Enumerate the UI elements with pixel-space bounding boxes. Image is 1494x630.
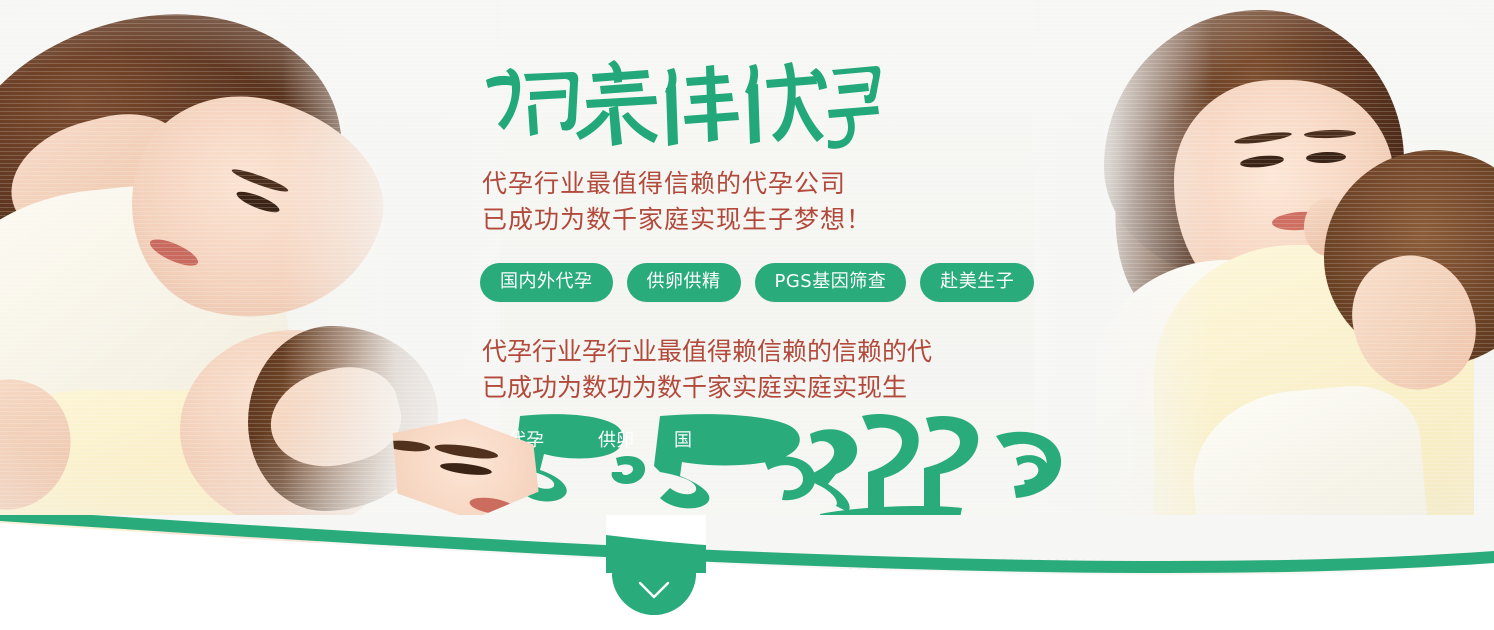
glitch-tagline-line-1: 代孕行业孕行业最值得赖信赖的信赖的代: [482, 334, 932, 370]
ghost-pill-2: 供卵: [578, 422, 640, 461]
glitch-tagline-line-2: 已成功为数功为数千家实庭实庭实现生: [482, 370, 932, 406]
brand-title: [480, 52, 880, 152]
pill-domestic-overseas-surrogacy[interactable]: 国内外代孕: [480, 263, 613, 302]
hero-panel: 代孕行业最值得信赖的代孕公司 已成功为数千家庭实现生子梦想！ 国内外代孕 供卵供…: [0, 0, 1494, 575]
bottom-curve-section: [0, 515, 1494, 630]
pill-birth-in-usa[interactable]: 赴美生子: [920, 263, 1034, 302]
tagline: 代孕行业最值得信赖的代孕公司 已成功为数千家庭实现生子梦想！: [482, 166, 872, 238]
tagline-line-2: 已成功为数千家庭实现生子梦想！: [482, 202, 872, 238]
tagline-line-1: 代孕行业最值得信赖的代孕公司: [482, 166, 872, 202]
hero-banner: 代孕行业最值得信赖的代孕公司 已成功为数千家庭实现生子梦想！ 国内外代孕 供卵供…: [0, 0, 1494, 630]
service-pill-group: 国内外代孕 供卵供精 PGS基因筛查 赴美生子: [480, 263, 1034, 302]
pill-egg-sperm-donation[interactable]: 供卵供精: [627, 263, 741, 302]
glitch-tagline: 代孕行业孕行业最值得赖信赖的信赖的代 已成功为数功为数千家实庭实庭实现生: [482, 334, 932, 406]
render-glitch-artifact: 代孕行业孕行业最值得赖信赖的信赖的代 已成功为数功为数千家实庭实庭实现生 孕公司…: [470, 318, 1110, 548]
pill-pgs-genetic-screening[interactable]: PGS基因筛查: [755, 263, 907, 302]
ghost-pill-3: 国: [654, 422, 694, 461]
